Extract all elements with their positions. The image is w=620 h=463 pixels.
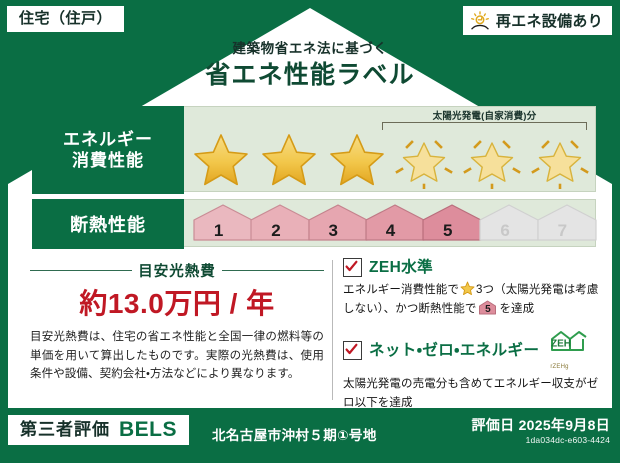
star-solar: [461, 129, 523, 189]
insulation-level-number: 3: [305, 222, 362, 239]
energy-rating-panel: 太陽光発電(自家消費)分: [184, 106, 596, 192]
insulation-performance-row: 断熱性能 1 2 3: [32, 199, 596, 249]
star-solar: [393, 129, 455, 189]
housing-type-tag: 住宅（住戸）: [7, 6, 124, 32]
label-heading: 建築物省エネ法に基づく 省エネ性能ラベル: [8, 42, 612, 90]
insulation-level-number: 1: [190, 222, 247, 239]
star-filled: [326, 129, 388, 189]
evaluation-date: 評価日 2025年9月8日: [471, 417, 610, 434]
energy-label-line2: 消費性能: [72, 150, 144, 171]
energy-performance-label: エネルギー 消費性能: [32, 106, 184, 194]
energy-performance-row: エネルギー 消費性能 太陽光発電(自家消費)分: [32, 106, 596, 194]
svg-text:ZEH: ZEH: [551, 339, 571, 350]
bels-badge-en: BELS: [119, 419, 177, 440]
evaluation-id: 1da034dc-e603-4424: [471, 435, 610, 446]
renewable-equipment-badge: 再エネ設備あり: [463, 6, 612, 35]
page-title: 省エネ性能ラベル: [8, 60, 612, 90]
criterion-description: エネルギー消費性能で3つ（太陽光発電は考慮しない）、かつ断熱性能で5を達成: [343, 281, 602, 318]
star-filled: [258, 129, 320, 189]
utility-cost-block: 目安光熱費 約13.0万円 / 年 目安光熱費は、住宅の省エネ性能と全国一律の燃…: [30, 258, 332, 406]
renewable-badge-label: 再エネ設備あり: [496, 10, 603, 31]
bels-badge-jp: 第三者評価: [20, 421, 110, 438]
insulation-level-6: 6: [476, 203, 533, 243]
utility-cost-heading: 目安光熱費: [30, 260, 324, 281]
criterion-header: ネット・ゼロ・エネルギー ZEH rZEHg: [343, 329, 602, 371]
criterion-header: ZEH水準: [343, 258, 602, 277]
performance-section: エネルギー 消費性能 太陽光発電(自家消費)分: [32, 106, 596, 254]
inline-star-icon: [460, 281, 475, 295]
rule-left: [30, 270, 132, 271]
insulation-level-number: 5: [419, 222, 476, 239]
insulation-level-7: 7: [534, 203, 591, 243]
insulation-level-3: 3: [305, 203, 362, 243]
criteria-block: ZEH水準 エネルギー消費性能で3つ（太陽光発電は考慮しない）、かつ断熱性能で5…: [343, 258, 602, 406]
star-solar: [529, 129, 591, 189]
insulation-level-scale: 1 2 3 4: [190, 202, 591, 244]
property-address: 北名古屋市沖村５期①号地: [212, 424, 377, 444]
star-rating: [190, 129, 591, 189]
insulation-level-2: 2: [247, 203, 304, 243]
criterion-net-zero-energy: ネット・ゼロ・エネルギー ZEH rZEHg 太陽光発電の売電分も含めてエネルギ…: [343, 329, 602, 412]
heading-subtitle: 建築物省エネ法に基づく: [8, 42, 612, 57]
checkbox-checked-icon: [343, 341, 362, 360]
evaluation-date-value: 2025年9月8日: [519, 417, 610, 433]
insulation-level-number: 2: [247, 222, 304, 239]
lower-section: 目安光熱費 約13.0万円 / 年 目安光熱費は、住宅の省エネ性能と全国一律の燃…: [30, 258, 602, 406]
energy-label-line1: エネルギー: [63, 129, 153, 150]
utility-cost-heading-text: 目安光熱費: [138, 260, 216, 281]
solar-annotation-caption: 太陽光発電(自家消費)分: [380, 108, 589, 122]
criterion-text-part1: エネルギー消費性能で: [343, 284, 459, 296]
insulation-performance-label: 断熱性能: [32, 199, 184, 249]
insulation-level-4: 4: [362, 203, 419, 243]
criterion-text-part3: を達成: [499, 303, 534, 315]
criterion-title: ネット・ゼロ・エネルギー: [369, 343, 539, 359]
zeh-logo-icon: ZEH rZEHg: [549, 329, 602, 371]
criterion-description: 太陽光発電の売電分も含めてエネルギー収支がゼロ以下を達成: [343, 375, 602, 412]
criterion-title: ZEH水準: [369, 260, 433, 276]
utility-cost-note: 目安光熱費は、住宅の省エネ性能と全国一律の燃料等の単価を用いて算出したものです。…: [30, 328, 324, 384]
checkbox-checked-icon: [343, 258, 362, 277]
energy-performance-label: 住宅（住戸） 再エネ設備あり 建築物省エネ法に基づく 省: [0, 0, 620, 463]
label-footer: 第三者評価 BELS 北名古屋市沖村５期①号地 評価日 2025年9月8日 1d…: [0, 408, 620, 463]
zeh-logo-subtext: rZEHg: [550, 364, 568, 370]
utility-cost-value: 約13.0万円 / 年: [30, 290, 324, 318]
rule-right: [222, 270, 324, 271]
insulation-level-1: 1: [190, 203, 247, 243]
sun-icon: [469, 11, 491, 31]
vertical-divider: [332, 260, 333, 400]
insulation-level-number: 7: [534, 222, 591, 239]
bels-badge: 第三者評価 BELS: [8, 415, 189, 445]
insulation-rating-panel: 1 2 3 4: [184, 199, 596, 247]
inline-insulation-house-icon: 5: [478, 300, 497, 315]
insulation-level-number: 6: [476, 222, 533, 239]
inline-house-level: 5: [478, 305, 497, 315]
insulation-level-number: 4: [362, 222, 419, 239]
insulation-label-text: 断熱性能: [70, 211, 146, 237]
evaluation-date-label: 評価日: [471, 417, 514, 433]
criterion-zeh-standard: ZEH水準 エネルギー消費性能で3つ（太陽光発電は考慮しない）、かつ断熱性能で5…: [343, 258, 602, 318]
solar-generation-annotation: 太陽光発電(自家消費)分: [380, 109, 589, 131]
insulation-level-5: 5: [419, 203, 476, 243]
evaluation-info: 評価日 2025年9月8日 1da034dc-e603-4424: [471, 417, 610, 446]
star-filled: [190, 129, 252, 189]
label-content: 建築物省エネ法に基づく 省エネ性能ラベル エネルギー 消費性能 太陽光発電(自家…: [8, 8, 612, 408]
